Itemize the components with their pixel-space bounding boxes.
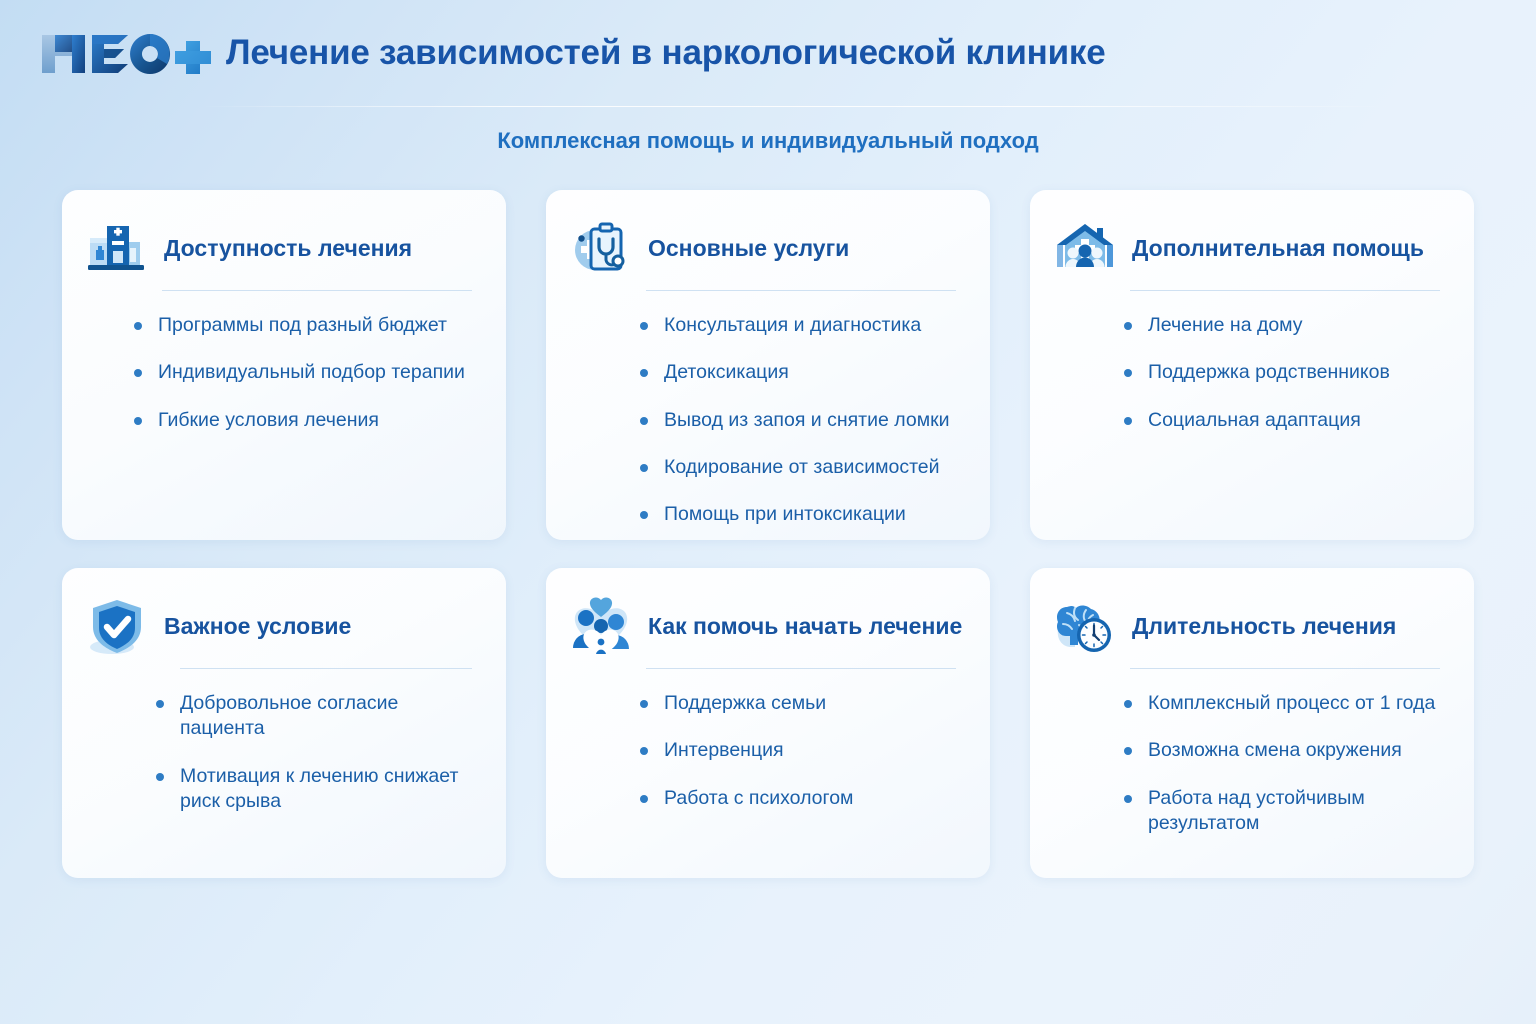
card-how-to-start[interactable]: Как помочь начать лечение Поддержка семь…: [546, 568, 990, 878]
shield-check-icon: [84, 594, 150, 660]
card-divider: [646, 290, 956, 291]
card-title: Длительность лечения: [1132, 614, 1396, 639]
list-item: Вывод из запоя и снятие ломки: [640, 408, 962, 433]
card-header: Как помочь начать лечение: [568, 594, 962, 660]
list-item: Детоксикация: [640, 360, 962, 385]
card-title: Важное условие: [164, 614, 351, 639]
card-divider: [162, 290, 472, 291]
card-title: Дополнительная помощь: [1132, 236, 1424, 261]
list-item: Программы под разный бюджет: [134, 313, 474, 338]
card-bullet-list: Консультация и диагностика Детоксикация …: [568, 313, 962, 528]
clipboard-stethoscope-icon: [568, 216, 634, 282]
list-item: Комплексный процесс от 1 года: [1124, 691, 1446, 716]
page-header: Лечение зависимостей в наркологической к…: [0, 0, 1536, 106]
family-heart-icon: [568, 594, 634, 660]
card-header: Основные услуги: [568, 216, 962, 282]
header-divider: [200, 106, 1400, 107]
page-title: Лечение зависимостей в наркологической к…: [226, 35, 1106, 72]
list-item: Мотивация к лечению снижает риск срыва: [156, 764, 478, 815]
card-main-services[interactable]: Основные услуги Консультация и диагности…: [546, 190, 990, 540]
card-header: Важное условие: [84, 594, 478, 660]
list-item: Поддержка семьи: [640, 691, 962, 716]
card-divider: [1130, 290, 1440, 291]
cards-grid: Доступность лечения Программы под разный…: [62, 190, 1474, 878]
card-divider: [180, 668, 472, 669]
list-item: Помощь при интоксикации: [640, 502, 962, 527]
card-title: Доступность лечения: [164, 236, 412, 261]
card-bullet-list: Добровольное согласие пациента Мотивация…: [84, 691, 478, 814]
card-bullet-list: Лечение на дому Поддержка родственников …: [1052, 313, 1446, 433]
list-item: Добровольное согласие пациента: [156, 691, 478, 742]
page-subtitle: Комплексная помощь и индивидуальный подх…: [0, 128, 1536, 154]
list-item: Поддержка родственников: [1124, 360, 1446, 385]
card-bullet-list: Комплексный процесс от 1 года Возможна с…: [1052, 691, 1446, 836]
list-item: Социальная адаптация: [1124, 408, 1446, 433]
card-additional-help[interactable]: Дополнительная помощь Лечение на дому По…: [1030, 190, 1474, 540]
list-item: Работа над устойчивым результатом: [1124, 786, 1446, 837]
hospital-building-icon: [84, 216, 150, 282]
list-item: Консультация и диагностика: [640, 313, 962, 338]
neo-plus-logo: [36, 25, 212, 81]
card-treatment-availability[interactable]: Доступность лечения Программы под разный…: [62, 190, 506, 540]
card-bullet-list: Программы под разный бюджет Индивидуальн…: [84, 313, 478, 433]
brain-clock-icon: [1052, 594, 1118, 660]
card-important-condition[interactable]: Важное условие Добровольное согласие пац…: [62, 568, 506, 878]
list-item: Индивидуальный подбор терапии: [134, 360, 474, 385]
list-item: Интервенция: [640, 738, 962, 763]
house-family-cross-icon: [1052, 216, 1118, 282]
list-item: Кодирование от зависимостей: [640, 455, 962, 480]
card-title: Как помочь начать лечение: [648, 614, 962, 639]
card-treatment-duration[interactable]: Длительность лечения Комплексный процесс…: [1030, 568, 1474, 878]
list-item: Гибкие условия лечения: [134, 408, 474, 433]
list-item: Лечение на дому: [1124, 313, 1446, 338]
card-bullet-list: Поддержка семьи Интервенция Работа с пси…: [568, 691, 962, 811]
card-header: Дополнительная помощь: [1052, 216, 1446, 282]
list-item: Работа с психологом: [640, 786, 962, 811]
card-divider: [1130, 668, 1440, 669]
card-header: Длительность лечения: [1052, 594, 1446, 660]
card-title: Основные услуги: [648, 236, 849, 261]
card-divider: [646, 668, 956, 669]
card-header: Доступность лечения: [84, 216, 478, 282]
list-item: Возможна смена окружения: [1124, 738, 1446, 763]
